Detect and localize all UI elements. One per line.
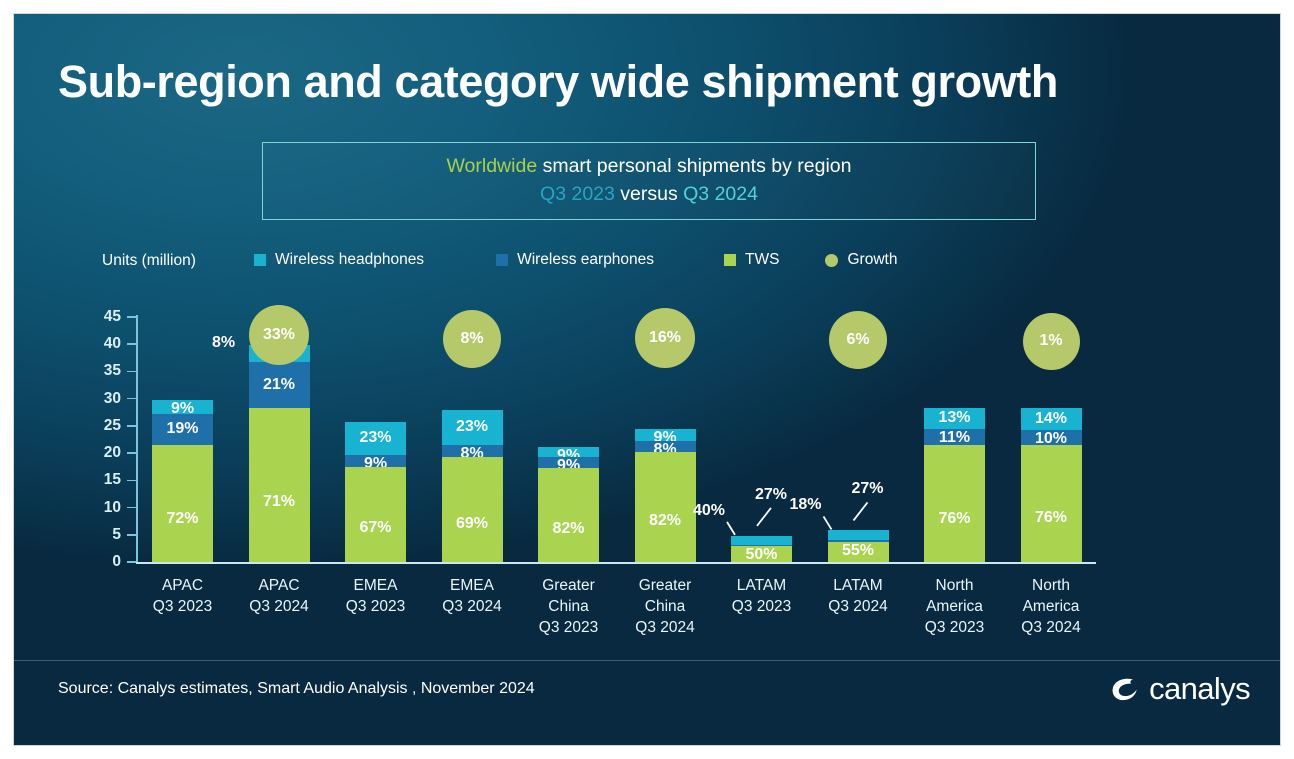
bar-column[interactable]: 13%11%76% [924, 408, 985, 562]
y-axis-tick-label: 30 [87, 390, 121, 408]
bar-label-wireless-headphones: 13% [924, 409, 985, 427]
bar-segment-wireless-earphones[interactable]: 21% [249, 362, 310, 408]
x-axis-tick-label-line: APAC [231, 576, 328, 597]
bar-column[interactable]: 23%8%69% [442, 410, 503, 562]
x-axis-tick-label-line: Q3 2023 [134, 597, 231, 618]
bar-label-tws: 50% [731, 546, 792, 564]
chart-plot-area: 0510152025303540459%19%72%21%71%23%9%67%… [14, 14, 1280, 745]
bar-label-wireless-headphones-outside: 8% [202, 334, 246, 352]
x-axis-tick-label-line: America [906, 597, 1003, 618]
bar-label-tws: 76% [1021, 509, 1082, 527]
y-axis-tick-label: 15 [87, 471, 121, 489]
bar-column[interactable]: 9%9%82% [538, 447, 599, 562]
x-axis-category-label: LATAMQ3 2023 [713, 576, 810, 618]
growth-bubble[interactable]: 6% [829, 311, 887, 369]
growth-bubble[interactable]: 33% [249, 305, 309, 365]
bar-segment-wireless-headphones[interactable]: 9% [538, 447, 599, 457]
bar-column[interactable]: 9%19%72% [152, 400, 213, 562]
bar-column[interactable]: 9%8%82% [635, 429, 696, 562]
x-axis-tick-label-line: North [906, 576, 1003, 597]
y-axis-tick-label: 35 [87, 362, 121, 380]
x-axis-category-label: APACQ3 2023 [134, 576, 231, 618]
y-axis-tick [127, 371, 136, 373]
bar-label-wireless-headphones: 23% [345, 429, 406, 447]
bar-label-wireless-headphones-outside: 27% [846, 480, 890, 498]
bar-label-wireless-earphones: 19% [152, 420, 213, 438]
x-axis-tick-label-line: America [1003, 597, 1100, 618]
x-axis-tick-label-line: Q3 2023 [713, 597, 810, 618]
bar-segment-tws[interactable]: 55% [828, 542, 889, 562]
x-axis-tick-label-line: North [1003, 576, 1100, 597]
x-axis-tick-label-line: Q3 2024 [424, 597, 521, 618]
x-axis-tick-label-line: China [617, 597, 714, 618]
y-axis-tick-label: 0 [87, 553, 121, 571]
canalys-logo: canalys [1108, 671, 1250, 707]
bar-segment-wireless-earphones[interactable]: 9% [538, 457, 599, 467]
x-axis-category-label: GreaterChinaQ3 2023 [520, 576, 617, 639]
bar-label-wireless-headphones: 14% [1021, 410, 1082, 428]
y-axis-tick-label: 25 [87, 417, 121, 435]
y-axis-tick [127, 561, 136, 563]
x-axis-category-label: LATAMQ3 2024 [810, 576, 907, 618]
x-axis-tick-label-line: APAC [134, 576, 231, 597]
growth-bubble[interactable]: 16% [635, 308, 695, 368]
bar-segment-tws[interactable]: 82% [538, 468, 599, 562]
x-axis-tick-label-line: EMEA [424, 576, 521, 597]
bar-column[interactable]: 21%71% [249, 345, 310, 562]
x-axis-tick-label-line: Q3 2023 [906, 618, 1003, 639]
bar-label-wireless-earphones: 21% [249, 376, 310, 394]
x-axis-category-label: EMEAQ3 2024 [424, 576, 521, 618]
bar-segment-wireless-earphones[interactable]: 19% [152, 414, 213, 445]
bar-segment-tws[interactable]: 67% [345, 467, 406, 562]
bar-label-tws: 76% [924, 510, 985, 528]
bar-label-tws: 71% [249, 493, 310, 511]
x-axis-tick-label-line: China [520, 597, 617, 618]
bar-segment-wireless-headphones[interactable]: 13% [924, 408, 985, 428]
y-axis-tick [127, 398, 136, 400]
bar-label-wireless-earphones-outside: 40% [687, 502, 731, 520]
x-axis-tick-label-line: Q3 2023 [327, 597, 424, 618]
bar-segment-tws[interactable]: 72% [152, 445, 213, 562]
bar-segment-tws[interactable]: 76% [1021, 445, 1082, 562]
x-axis-tick-label-line: Q3 2024 [231, 597, 328, 618]
bar-column[interactable]: 14%10%76% [1021, 408, 1082, 562]
x-axis-line [136, 562, 1096, 564]
footer-divider [14, 660, 1280, 661]
x-axis-tick-label-line: LATAM [713, 576, 810, 597]
y-axis-tick-label: 20 [87, 444, 121, 462]
bar-segment-wireless-earphones[interactable]: 8% [635, 441, 696, 452]
bar-column[interactable]: 55% [828, 530, 889, 562]
y-axis-tick [127, 425, 136, 427]
x-axis-category-label: APACQ3 2024 [231, 576, 328, 618]
x-axis-tick-label-line: Q3 2024 [617, 618, 714, 639]
y-axis-tick-label: 45 [87, 308, 121, 326]
x-axis-category-label: NorthAmericaQ3 2023 [906, 576, 1003, 639]
bar-segment-wireless-headphones[interactable] [828, 530, 889, 540]
x-axis-tick-label-line: Greater [617, 576, 714, 597]
bar-segment-wireless-earphones[interactable]: 11% [924, 429, 985, 446]
canalys-swirl-icon [1108, 672, 1142, 706]
bar-segment-tws[interactable]: 69% [442, 457, 503, 562]
y-axis-line [136, 315, 138, 564]
x-axis-category-label: EMEAQ3 2023 [327, 576, 424, 618]
bar-segment-wireless-earphones[interactable]: 10% [1021, 430, 1082, 445]
growth-bubble[interactable]: 1% [1023, 313, 1080, 370]
bar-label-tws: 69% [442, 515, 503, 533]
bar-column[interactable]: 50% [731, 536, 792, 562]
bar-segment-wireless-earphones[interactable]: 9% [345, 455, 406, 468]
bar-segment-wireless-headphones[interactable]: 14% [1021, 408, 1082, 429]
source-note: Source: Canalys estimates, Smart Audio A… [58, 680, 535, 698]
bar-label-wireless-earphones: 11% [924, 429, 985, 447]
y-axis-tick [127, 534, 136, 536]
bar-label-tws: 67% [345, 519, 406, 537]
x-axis-tick-label-line: Greater [520, 576, 617, 597]
x-axis-tick-label-line: Q3 2023 [520, 618, 617, 639]
x-axis-category-label: GreaterChinaQ3 2024 [617, 576, 714, 639]
bar-segment-tws[interactable]: 50% [731, 546, 792, 562]
x-axis-tick-label-line: LATAM [810, 576, 907, 597]
bar-segment-wireless-earphones[interactable]: 8% [442, 445, 503, 457]
growth-bubble[interactable]: 8% [443, 310, 501, 368]
slide-canvas: Sub-region and category wide shipment gr… [14, 14, 1280, 745]
bar-segment-wireless-headphones[interactable]: 23% [442, 410, 503, 445]
bar-label-tws: 72% [152, 510, 213, 528]
x-axis-tick-label-line: Q3 2024 [810, 597, 907, 618]
logo-wordmark: canalys [1149, 671, 1250, 707]
y-axis-tick [127, 316, 136, 318]
bar-segment-wireless-headphones[interactable]: 9% [635, 429, 696, 441]
y-axis-tick-label: 40 [87, 335, 121, 353]
y-axis-tick [127, 452, 136, 454]
y-axis-tick [127, 507, 136, 509]
x-axis-tick-label-line: EMEA [327, 576, 424, 597]
bar-column[interactable]: 23%9%67% [345, 422, 406, 562]
x-axis-tick-label-line: Q3 2024 [1003, 618, 1100, 639]
bar-segment-tws[interactable]: 71% [249, 408, 310, 562]
bar-label-wireless-earphones-outside: 18% [784, 496, 828, 514]
bar-segment-wireless-headphones[interactable]: 23% [345, 422, 406, 455]
bar-segment-wireless-headphones[interactable]: 9% [152, 400, 213, 415]
y-axis-tick [127, 343, 136, 345]
y-axis-tick-label: 5 [87, 526, 121, 544]
bar-segment-tws[interactable]: 76% [924, 445, 985, 562]
bar-label-tws: 82% [538, 520, 599, 538]
x-axis-category-label: NorthAmericaQ3 2024 [1003, 576, 1100, 639]
y-axis-tick-label: 10 [87, 499, 121, 517]
bar-label-wireless-headphones: 23% [442, 418, 503, 436]
y-axis-tick [127, 480, 136, 482]
bar-label-tws: 55% [828, 542, 889, 560]
bar-segment-wireless-headphones[interactable] [731, 536, 792, 545]
